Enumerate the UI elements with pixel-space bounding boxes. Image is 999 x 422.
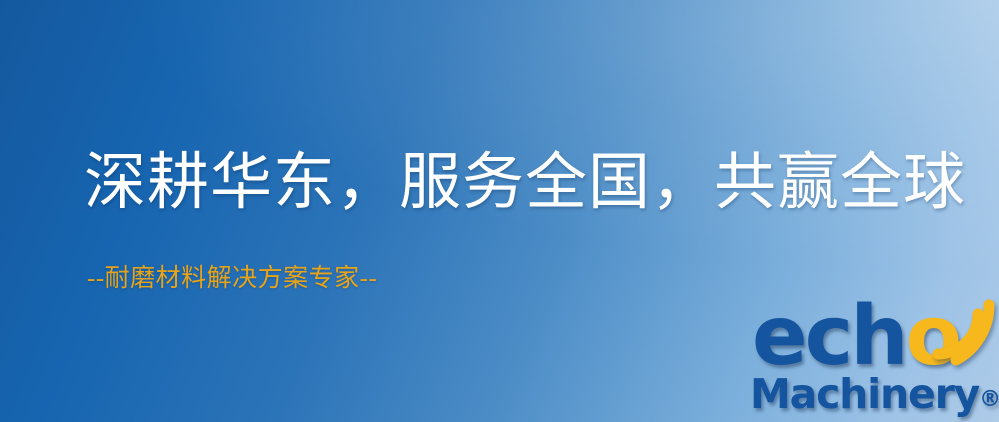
logo-subword: Machinery® xyxy=(750,374,999,415)
company-logo: echo Machinery® xyxy=(744,296,999,422)
logo-subword-text: Machinery xyxy=(750,370,979,418)
registered-trademark-icon: ® xyxy=(979,387,999,412)
banner-subtitle: --耐磨材料解决方案专家-- xyxy=(87,266,377,291)
promotional-banner: 深耕华东，服务全国，共赢全球 --耐磨材料解决方案专家-- echo Machi… xyxy=(0,0,999,422)
banner-headline: 深耕华东，服务全国，共赢全球 xyxy=(84,152,966,214)
signal-arcs-icon xyxy=(926,294,996,366)
